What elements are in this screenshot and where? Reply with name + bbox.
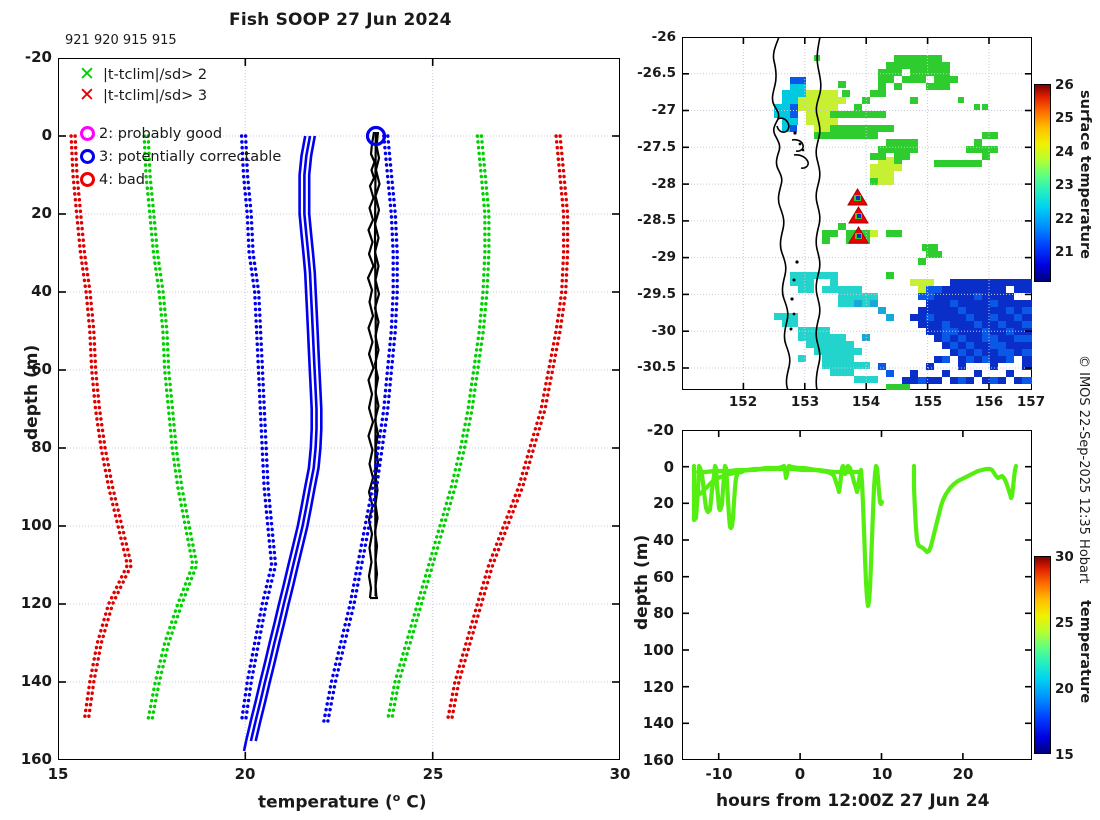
circle-marker-icon: [80, 126, 95, 141]
map-ytick: -29: [618, 249, 676, 265]
sst-colorbar: [1034, 84, 1051, 282]
map-ytick: -27: [618, 102, 676, 118]
sst-colorbar-tick: 21: [1055, 244, 1074, 260]
map-xtick: 154: [846, 394, 886, 410]
profile-ytick: 0: [8, 126, 52, 144]
depth-time-ylabel-text: depth (m): [632, 535, 652, 630]
depth-time-xtick: 20: [942, 765, 984, 783]
depth-time-ytick: 140: [618, 714, 674, 732]
track-path: [694, 466, 1016, 606]
profile-ytick: 120: [8, 594, 52, 612]
map-xtick: 155: [908, 394, 948, 410]
map-xtick: 157: [1011, 394, 1051, 410]
profile-plot-panel: ✕ |t-tclim|/sd> 2 ✕ |t-tclim|/sd> 3 2: p…: [58, 58, 620, 760]
sst-colorbar-label: surface temperature: [1077, 90, 1093, 259]
sst-colorbar-tick: 26: [1055, 77, 1074, 93]
x-marker-icon: ✕: [76, 86, 98, 105]
map-ytick: -30: [618, 323, 676, 339]
legend-item-3: 3: potentially correctable: [76, 145, 281, 168]
map-xtick: 156: [969, 394, 1009, 410]
profile-legend: ✕ |t-tclim|/sd> 2 ✕ |t-tclim|/sd> 3 2: p…: [76, 64, 281, 191]
profile-ytick: 20: [8, 204, 52, 222]
depth-time-panel: [682, 430, 1032, 760]
profile-ytick: 140: [8, 672, 52, 690]
coastline-islands: [790, 131, 805, 330]
sst-map-canvas: [682, 37, 1032, 390]
map-ytick: -27.5: [618, 139, 676, 155]
temperature-colorbar-tick: 25: [1055, 615, 1074, 631]
legend-item-2: 2: probably good: [76, 122, 281, 145]
legend-label: 4: bad: [99, 172, 145, 188]
depth-time-ytick: 0: [618, 458, 674, 476]
map-ytick: -28.5: [618, 212, 676, 228]
depth-time-ytick: 100: [618, 641, 674, 659]
profile-ytick: 100: [8, 516, 52, 534]
station-marker: [849, 207, 868, 223]
map-xtick: 153: [785, 394, 825, 410]
map-xtick: 152: [723, 394, 763, 410]
legend-label: 2: probably good: [99, 126, 222, 142]
profile-xlabel: temperature (o C): [258, 791, 427, 813]
map-ytick: -29.5: [618, 286, 676, 302]
depth-time-ytick: -20: [618, 421, 674, 439]
series-clim-minus3sd: [71, 136, 131, 721]
station-marker: [848, 189, 867, 205]
circle-marker-icon: [80, 149, 95, 164]
series-clim-plus1sd: [324, 136, 397, 721]
sst-map-panel: [682, 37, 1032, 390]
temperature-colorbar-tick: 30: [1055, 549, 1074, 565]
depth-time-xlabel: hours from 12:00Z 27 Jun 24: [716, 791, 989, 811]
legend-item-1: ✕ |t-tclim|/sd> 3: [76, 85, 281, 106]
profile-ylabel-text: depth (m): [22, 345, 42, 440]
series-clim-minus2sd: [144, 136, 197, 721]
page-title: Fish SOOP 27 Jun 2024: [229, 10, 452, 30]
map-ytick: -26.5: [618, 65, 676, 81]
sst-pixels: [774, 55, 1032, 390]
depth-time-xtick: 0: [779, 765, 821, 783]
temperature-colorbar-tick: 20: [1055, 681, 1074, 697]
sst-colorbar-tick: 25: [1055, 110, 1074, 126]
series-clim-plus3sd: [447, 136, 567, 721]
profile-xtick: 15: [38, 765, 78, 783]
sst-colorbar-label-text: surface temperature: [1077, 90, 1093, 259]
depth-time-xtick: -10: [698, 765, 740, 783]
profile-ytick: 40: [8, 282, 52, 300]
temperature-colorbar-label: temperature: [1077, 600, 1093, 703]
depth-time-ytick: 20: [618, 494, 674, 512]
x-marker-icon: ✕: [76, 65, 98, 84]
depth-time-ytick: 120: [618, 678, 674, 696]
profile-xtick: 20: [225, 765, 265, 783]
legend-item-4: 4: bad: [76, 168, 281, 191]
temperature-colorbar-label-text: temperature: [1077, 600, 1093, 703]
map-ytick: -30.5: [618, 359, 676, 375]
series-clim-minus1sd: [242, 136, 276, 721]
credit-text: © IMOS 22-Sep-2025 12:35 Hobart: [1076, 355, 1091, 583]
profile-ytick: -20: [8, 48, 52, 66]
sst-colorbar-tick: 22: [1055, 211, 1074, 227]
station-ids-annotation: 921 920 915 915: [65, 33, 177, 48]
temperature-colorbar-tick: 15: [1055, 747, 1074, 763]
sst-colorbar-tick: 24: [1055, 144, 1074, 160]
depth-time-xtick: 10: [861, 765, 903, 783]
circle-marker-icon: [80, 172, 95, 187]
legend-label: 3: potentially correctable: [99, 149, 281, 165]
depth-time-ytick: 160: [618, 751, 674, 769]
map-ytick: -28: [618, 176, 676, 192]
depth-time-ylabel: depth (m): [632, 535, 652, 630]
legend-item-0: ✕ |t-tclim|/sd> 2: [76, 64, 281, 85]
profile-ytick: 80: [8, 438, 52, 456]
legend-label: |t-tclim|/sd> 3: [103, 88, 207, 104]
sst-colorbar-tick: 23: [1055, 177, 1074, 193]
depth-time-canvas: [682, 430, 1032, 760]
map-ytick: -26: [618, 29, 676, 45]
profile-ylabel: depth (m): [22, 345, 42, 440]
legend-label: |t-tclim|/sd> 2: [103, 67, 207, 83]
temperature-colorbar: [1034, 556, 1051, 754]
legend-spacer: [76, 106, 281, 122]
profile-xtick: 25: [413, 765, 453, 783]
